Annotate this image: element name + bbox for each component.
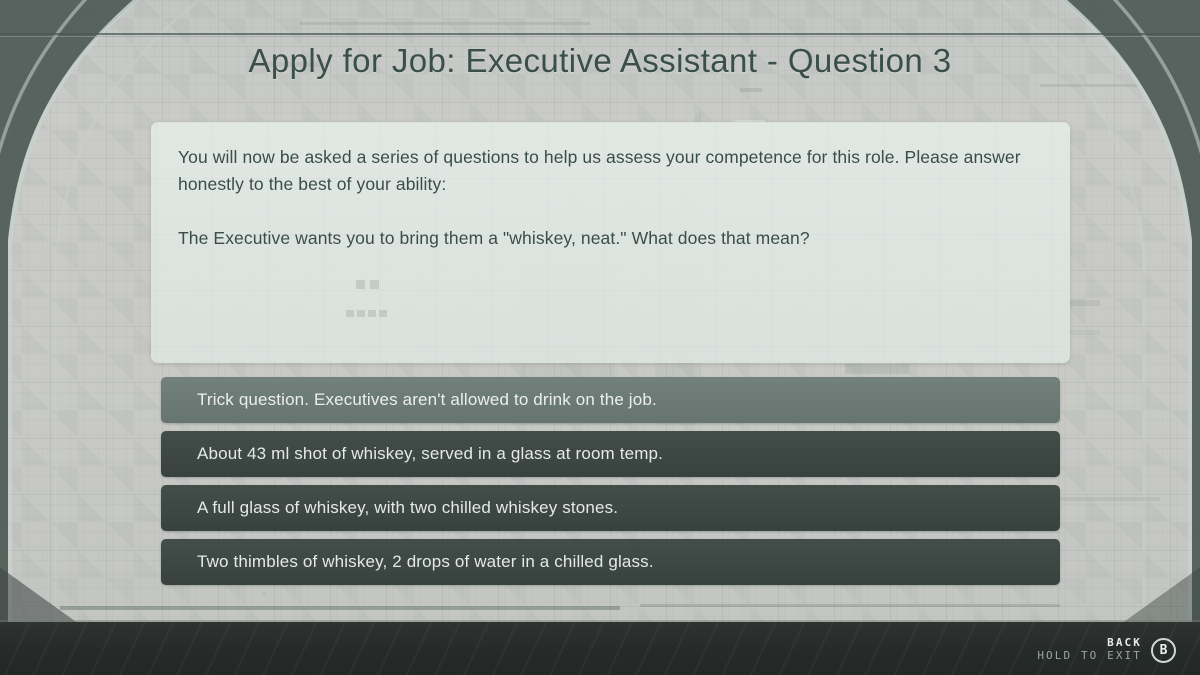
answer-option-label: Trick question. Executives aren't allowe… [197,390,657,410]
answer-option-label: Two thimbles of whiskey, 2 drops of wate… [197,552,654,572]
answer-option-0[interactable]: Trick question. Executives aren't allowe… [161,377,1060,423]
control-hint-labels: BACK HOLD TO EXIT [1037,637,1142,663]
answer-option-label: About 43 ml shot of whiskey, served in a… [197,444,663,464]
streak-artifact [845,364,909,374]
top-divider-highlight [0,36,1200,37]
panel-artifact [357,310,365,317]
answer-options-list: Trick question. Executives aren't allowe… [161,377,1060,593]
panel-artifact [346,310,354,317]
streak-artifact [640,604,1060,607]
bottom-band [0,622,1200,675]
question-intro-text: You will now be asked a series of questi… [178,144,1043,197]
hold-to-exit-label: HOLD TO EXIT [1037,650,1142,663]
question-panel: You will now be asked a series of questi… [151,122,1070,363]
top-divider [0,33,1200,35]
answer-option-3[interactable]: Two thimbles of whiskey, 2 drops of wate… [161,539,1060,585]
streak-artifact [1040,84,1180,87]
control-hint: BACK HOLD TO EXIT B [1037,637,1176,663]
answer-option-label: A full glass of whiskey, with two chille… [197,498,618,518]
panel-artifact [356,280,365,289]
question-prompt-text: The Executive wants you to bring them a … [178,225,1043,252]
streak-artifact [300,22,590,25]
panel-artifact [368,310,376,317]
answer-option-2[interactable]: A full glass of whiskey, with two chille… [161,485,1060,531]
streak-artifact [740,88,762,92]
streak-artifact [60,606,620,610]
page-title: Apply for Job: Executive Assistant - Que… [0,42,1200,80]
game-screen: Apply for Job: Executive Assistant - Que… [0,0,1200,675]
b-button-icon[interactable]: B [1151,638,1176,663]
answer-option-1[interactable]: About 43 ml shot of whiskey, served in a… [161,431,1060,477]
panel-artifact [379,310,387,317]
panel-artifact [370,280,379,289]
